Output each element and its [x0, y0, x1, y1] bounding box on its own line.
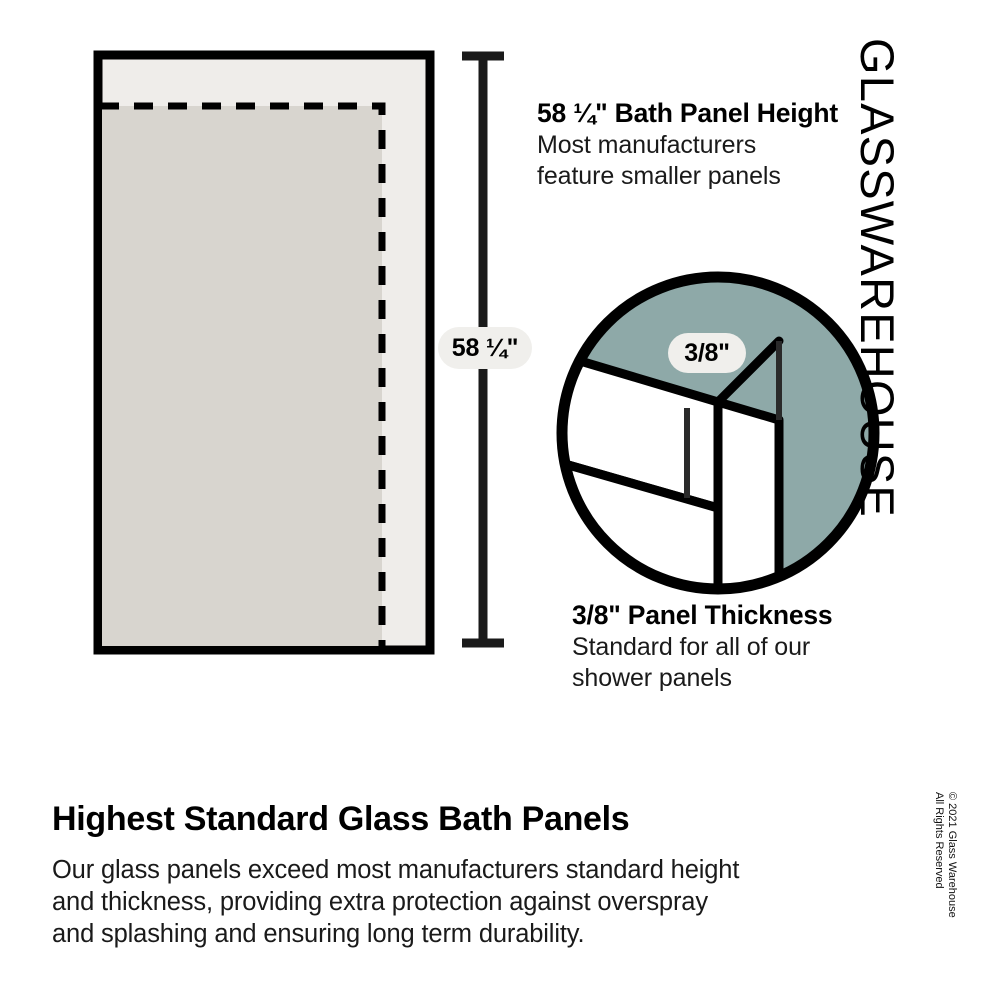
callout-height-line-1: Most manufacturers [537, 130, 838, 161]
callout-panel-thickness: 3/8" Panel Thickness Standard for all of… [572, 598, 832, 694]
bottom-body-line-1: Our glass panels exceed most manufacture… [52, 854, 882, 886]
copyright-line-1: © 2021 Glass Warehouse [945, 792, 958, 972]
callout-height-title: 58 ¼" Bath Panel Height [537, 96, 838, 130]
infographic-canvas: 58 ¼" 3/8" 58 ¼" Bath Panel He [0, 0, 1000, 1000]
bottom-body-line-3: and splashing and ensuring long term dur… [52, 918, 882, 950]
panel-inner-fill [102, 106, 382, 646]
brand-wordmark: GLASSWAREHOUSE [846, 38, 908, 598]
thickness-badge: 3/8" [668, 333, 746, 373]
bottom-body-line-2: and thickness, providing extra protectio… [52, 886, 882, 918]
callout-bath-panel-height: 58 ¼" Bath Panel Height Most manufacture… [537, 96, 838, 192]
callout-height-line-2: feature smaller panels [537, 161, 838, 192]
copyright-notice: © 2021 Glass Warehouse All Rights Reserv… [932, 792, 958, 972]
bottom-headline: Highest Standard Glass Bath Panels [52, 798, 882, 840]
height-dimension-badge: 58 ¼" [438, 327, 532, 369]
callout-thickness-title: 3/8" Panel Thickness [572, 598, 832, 632]
copyright-line-2: All Rights Reserved [932, 792, 945, 972]
callout-thickness-line-1: Standard for all of our [572, 632, 832, 663]
callout-thickness-line-2: shower panels [572, 663, 832, 694]
panel-thickness-detail-circle [543, 258, 893, 608]
bottom-text-block: Highest Standard Glass Bath Panels Our g… [52, 798, 882, 950]
